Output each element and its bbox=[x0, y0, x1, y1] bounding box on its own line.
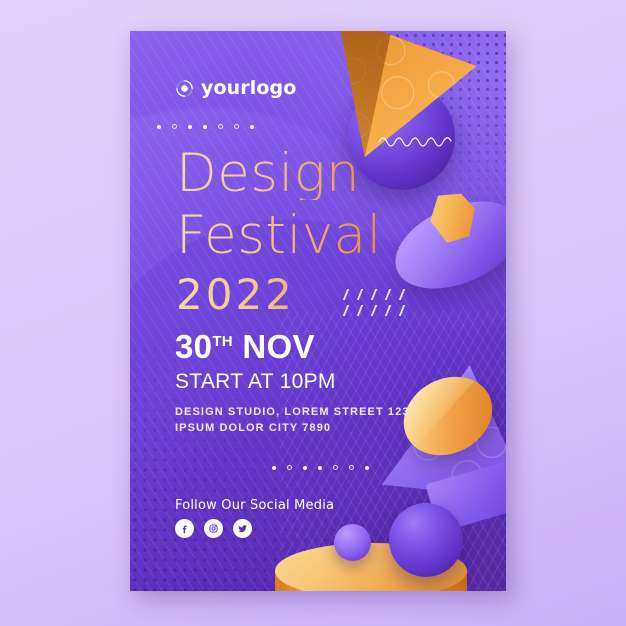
dot bbox=[218, 124, 223, 129]
twitter-glyph bbox=[237, 523, 248, 534]
dot bbox=[349, 465, 354, 470]
event-day: 30 bbox=[175, 328, 212, 365]
dot bbox=[272, 466, 276, 470]
title-line-2: Festival bbox=[176, 209, 382, 262]
twitter-icon[interactable] bbox=[233, 519, 252, 538]
slash-mark bbox=[385, 289, 391, 300]
slash-mark bbox=[399, 305, 405, 316]
dot bbox=[287, 465, 292, 470]
dot bbox=[318, 466, 322, 470]
slash-mark bbox=[399, 289, 405, 300]
title-line-1: Design bbox=[176, 147, 382, 200]
slash-mark bbox=[371, 305, 377, 316]
instagram-icon[interactable] bbox=[204, 519, 223, 538]
slash-row bbox=[345, 289, 425, 300]
decorative-dot-row-middle bbox=[272, 465, 369, 470]
social-links bbox=[175, 519, 252, 538]
dot bbox=[172, 124, 177, 129]
circle-dot-logo-icon bbox=[175, 79, 194, 98]
event-start-time: START AT 10PM bbox=[175, 370, 336, 394]
dot bbox=[157, 125, 161, 129]
poster-content: yourlogo Design Festival 2022 bbox=[130, 31, 506, 591]
decorative-dot-row-top bbox=[157, 124, 254, 129]
event-date: 30TH NOV bbox=[175, 328, 315, 366]
dot bbox=[303, 466, 307, 470]
slash-mark bbox=[371, 289, 377, 300]
dot bbox=[250, 125, 254, 129]
address-line-2: IPSUM DOLOR CITY 7890 bbox=[175, 421, 410, 437]
event-address: DESIGN STUDIO, LOREM STREET 123 IPSUM DO… bbox=[175, 405, 410, 437]
event-day-ordinal: TH bbox=[212, 333, 233, 350]
address-line-1: DESIGN STUDIO, LOREM STREET 123 bbox=[175, 405, 410, 421]
dot bbox=[234, 124, 239, 129]
dot bbox=[333, 465, 338, 470]
instagram-glyph bbox=[208, 523, 219, 534]
dot bbox=[365, 466, 369, 470]
facebook-glyph bbox=[179, 523, 190, 534]
decorative-slash-marks bbox=[345, 289, 425, 321]
brand-logo[interactable]: yourlogo bbox=[175, 77, 296, 99]
event-month: NOV bbox=[242, 328, 314, 365]
slash-mark bbox=[357, 289, 363, 300]
slash-mark bbox=[357, 305, 363, 316]
slash-row bbox=[345, 305, 425, 316]
follow-label: Follow Our Social Media bbox=[175, 498, 334, 513]
dot bbox=[188, 125, 192, 129]
facebook-icon[interactable] bbox=[175, 519, 194, 538]
dot bbox=[203, 125, 207, 129]
brand-logo-text: yourlogo bbox=[201, 77, 296, 99]
slash-mark bbox=[385, 305, 391, 316]
poster-canvas: yourlogo Design Festival 2022 bbox=[130, 31, 506, 591]
